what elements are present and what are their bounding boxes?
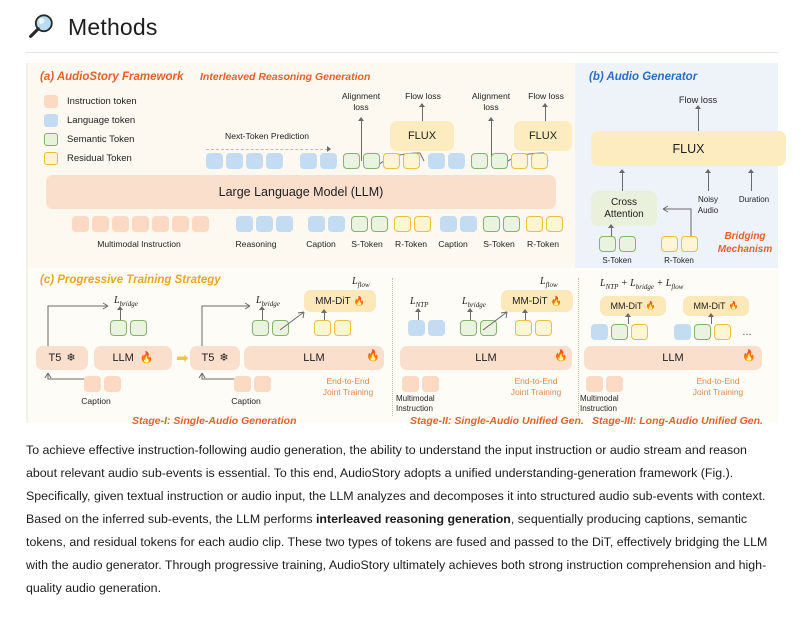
stage1b-lbridge-arrowhead xyxy=(259,306,265,310)
residual-token xyxy=(681,236,698,252)
b-rtoken-row xyxy=(661,236,698,252)
semantic-token xyxy=(363,153,380,169)
label-s-token-1: S-Token xyxy=(343,239,391,249)
stage3-token-group-2 xyxy=(674,324,731,340)
stage1b-sem-to-mmdit-connector xyxy=(278,308,312,334)
stage3-mmdit-arrowhead-2 xyxy=(708,313,714,317)
stage3-llm-box: LLM xyxy=(584,346,762,370)
rtoken-to-xattn-connector xyxy=(653,201,697,239)
methods-figure: (a) AudioStory Framework Instruction tok… xyxy=(26,63,778,423)
stage1b-mmdit-arrowhead xyxy=(321,309,327,313)
stoken-to-xattn-arrowhead xyxy=(608,224,614,228)
semantic-token xyxy=(503,216,520,232)
panel-audiostory-framework: (a) AudioStory Framework Instruction tok… xyxy=(28,63,575,268)
stage2-mmdit-arrowhead xyxy=(522,309,528,313)
residual-token xyxy=(661,236,678,252)
stage3-loss-sum-label: LNTP + Lbridge + Lflow xyxy=(600,278,683,291)
semantic-token xyxy=(599,236,616,252)
flow-loss-label-2: Flow loss xyxy=(518,91,574,101)
lower-token-row-reasoning xyxy=(236,216,293,232)
bridging-label-2: Mechanism xyxy=(705,244,785,257)
stage1-t5-box: T5 ❄ xyxy=(36,346,88,370)
upper-token-row-language-2 xyxy=(300,153,337,169)
semantic-token xyxy=(371,216,388,232)
lower-token-row-caption-1 xyxy=(308,216,345,232)
stage1b-mmdit-box: MM-DiT 🔥 xyxy=(304,290,376,312)
residual-token xyxy=(535,320,552,336)
duration-arrow xyxy=(751,173,752,191)
language-token xyxy=(460,216,477,232)
stage2-lntp-arrowhead xyxy=(415,308,421,312)
stage1-lbridge-arrow xyxy=(120,310,121,320)
instruction-token xyxy=(234,376,251,392)
alignment-loss-label-1: Alignment xyxy=(335,91,387,101)
b-stoken-row xyxy=(599,236,636,252)
l-subscript: flow xyxy=(671,283,683,291)
language-token xyxy=(408,320,425,336)
residual-token xyxy=(383,153,400,169)
stage2-e2e-note: End-to-End Joint Training xyxy=(498,376,574,397)
instruction-token xyxy=(606,376,623,392)
stage3-e2e-note: End-to-End Joint Training xyxy=(680,376,756,397)
fire-icon: 🔥 xyxy=(729,302,739,310)
residual-token xyxy=(515,320,532,336)
instruction-token xyxy=(104,376,121,392)
page-title: Methods xyxy=(68,14,158,41)
language-token xyxy=(320,153,337,169)
stage3-instruction-tokens xyxy=(586,376,623,392)
e2e-line-2: Joint Training xyxy=(310,387,386,398)
xattn-to-flux-arrowhead xyxy=(619,169,625,173)
language-token xyxy=(674,324,691,340)
stage1b-t5-to-lbridge-connector xyxy=(196,296,258,348)
magnifier-icon xyxy=(26,12,56,42)
instruction-token xyxy=(92,216,109,232)
panel-progressive-training: (c) Progressive Training Strategy Lbridg… xyxy=(28,268,778,423)
interleaved-reasoning-title: Interleaved Reasoning Generation xyxy=(200,71,370,83)
stoken-to-xattn-arrow xyxy=(611,228,612,236)
stage1b-caption-tokens xyxy=(234,376,271,392)
semantic-token xyxy=(130,320,147,336)
language-token xyxy=(428,153,445,169)
b-s-token-label: S-Token xyxy=(591,256,643,265)
mmdit-label: MM-DiT xyxy=(611,301,643,311)
language-token xyxy=(266,153,283,169)
cross-attention-label-2: Attention xyxy=(604,209,643,221)
e2e-line-1: End-to-End xyxy=(680,376,756,387)
panel-audio-generator: (b) Audio Generator Flow loss FLUX Cross… xyxy=(575,63,778,268)
label-s-token-2: S-Token xyxy=(475,239,523,249)
stage1b-mmdit-arrow xyxy=(324,313,325,320)
residual-token xyxy=(394,216,411,232)
residual-token xyxy=(531,153,548,169)
stage2-multimodal-label-2: Instruction xyxy=(396,404,458,413)
stage1-caption-tokens xyxy=(84,376,121,392)
panel-a-title: (a) AudioStory Framework xyxy=(40,71,183,83)
header-divider xyxy=(26,52,778,53)
stage3-mmdit-arrowhead-1 xyxy=(625,313,631,317)
stage2-lang-tokens xyxy=(408,320,445,336)
lower-token-row-rtoken-1 xyxy=(394,216,431,232)
label-reasoning: Reasoning xyxy=(226,239,286,249)
instruction-token xyxy=(192,216,209,232)
flow-arrow-1 xyxy=(422,107,423,121)
semantic-token xyxy=(110,320,127,336)
t5-label: T5 xyxy=(48,352,61,364)
language-token xyxy=(256,216,273,232)
stage2-lflow-label: Lflow xyxy=(540,276,558,289)
stage-3-caption: Stage-III: Long-Audio Unified Gen. xyxy=(592,415,763,427)
fire-icon: 🔥 xyxy=(551,297,562,306)
alignment-loss-label-2b: loss xyxy=(465,102,517,112)
stage1-lbridge-arrowhead xyxy=(117,306,123,310)
l-subscript: bridge xyxy=(636,283,654,291)
l-subscript: flow xyxy=(358,281,370,289)
semantic-token-swatch xyxy=(44,133,58,146)
b-r-token-label: R-Token xyxy=(653,256,705,265)
label-multimodal-instruction: Multimodal Instruction xyxy=(72,239,206,249)
stage1b-res-tokens xyxy=(314,320,351,336)
alignment-loss-label-1b: loss xyxy=(335,102,387,112)
flow-arrowhead-2 xyxy=(542,103,548,107)
stage-divider-1 xyxy=(392,278,393,416)
stage3-mmdit-box-2: MM-DiT 🔥 xyxy=(683,296,749,316)
language-token xyxy=(448,153,465,169)
label-r-token-1: R-Token xyxy=(387,239,435,249)
semantic-token xyxy=(351,216,368,232)
residual-token xyxy=(631,324,648,340)
semantic-token xyxy=(343,153,360,169)
flow-arrowhead-1 xyxy=(419,103,425,107)
upper-token-row-language-1 xyxy=(206,153,283,169)
legend-label: Semantic Token xyxy=(67,134,134,145)
l-subscript: NTP xyxy=(606,283,619,291)
duration-label: Duration xyxy=(730,195,778,204)
language-token xyxy=(236,216,253,232)
lower-token-row-stoken-2 xyxy=(483,216,520,232)
language-token-swatch xyxy=(44,114,58,127)
stage2-instruction-tokens xyxy=(402,376,439,392)
stage1-e2e-note: End-to-End Joint Training xyxy=(310,376,386,397)
lower-token-row-rtoken-2 xyxy=(526,216,563,232)
flow-loss-arrowhead-b xyxy=(695,105,701,109)
fire-icon: 🔥 xyxy=(140,353,154,364)
semantic-token xyxy=(471,153,488,169)
language-token xyxy=(440,216,457,232)
t5-label: T5 xyxy=(201,352,214,364)
next-token-dash-line xyxy=(206,149,328,150)
next-token-prediction-label: Next-Token Prediction xyxy=(225,131,309,141)
label-caption-2: Caption xyxy=(432,239,474,249)
xattn-to-flux-arrow xyxy=(622,173,623,191)
instruction-token xyxy=(254,376,271,392)
upper-token-row-sem-res-2 xyxy=(471,153,548,169)
legend-item-instruction: Instruction token xyxy=(44,93,137,110)
upper-token-row-sem-res-1 xyxy=(343,153,420,169)
semantic-token xyxy=(483,216,500,232)
legend-item-semantic: Semantic Token xyxy=(44,131,137,148)
language-token xyxy=(328,216,345,232)
stage3-mmdit-box-1: MM-DiT 🔥 xyxy=(600,296,666,316)
flux-box-b: FLUX xyxy=(591,131,786,166)
label-caption-1: Caption xyxy=(300,239,342,249)
stage3-ellipsis: ... xyxy=(736,326,758,338)
lower-token-row-stoken-1 xyxy=(351,216,388,232)
e2e-line-2: Joint Training xyxy=(498,387,574,398)
instruction-token xyxy=(72,216,89,232)
lower-token-row-instruction xyxy=(72,216,209,232)
fire-icon: 🔥 xyxy=(742,351,756,362)
residual-token xyxy=(414,216,431,232)
mmdit-label: MM-DiT xyxy=(512,296,548,307)
semantic-token xyxy=(694,324,711,340)
stage1b-lflow-label: Lflow xyxy=(352,276,370,289)
language-token xyxy=(308,216,325,232)
stage1b-llm-box: LLM xyxy=(244,346,384,370)
bridging-mechanism-label: Bridging Mechanism xyxy=(705,231,785,256)
stage1-llm-box: LLM 🔥 xyxy=(94,346,172,370)
instruction-token xyxy=(152,216,169,232)
stage2-lbridge-arrow xyxy=(470,312,471,320)
legend-label: Language token xyxy=(67,115,135,126)
cross-attention-label-1: Cross xyxy=(611,197,637,209)
residual-token xyxy=(714,324,731,340)
stage3-multimodal-label-1: Multimodal xyxy=(580,394,642,403)
flow-loss-label-1: Flow loss xyxy=(395,91,451,101)
stage3-mmdit-arrow-1 xyxy=(628,317,629,324)
label-r-token-2: R-Token xyxy=(519,239,567,249)
stage1-caption-label: Caption xyxy=(68,396,124,406)
stage3-multimodal-label-2: Instruction xyxy=(580,404,642,413)
language-token xyxy=(428,320,445,336)
instruction-token xyxy=(402,376,419,392)
alignment-arrowhead-2 xyxy=(488,117,494,121)
stage-divider-2 xyxy=(578,278,579,416)
instruction-token-swatch xyxy=(44,95,58,108)
semantic-token xyxy=(619,236,636,252)
instruction-token xyxy=(586,376,603,392)
page-header: Methods xyxy=(0,0,800,52)
stage3-token-group-1 xyxy=(591,324,648,340)
stage2-lntp-arrow xyxy=(418,312,419,320)
methods-description: To achieve effective instruction-followi… xyxy=(26,439,778,600)
alignment-loss-label-2: Alignment xyxy=(465,91,517,101)
stage2-multimodal-label-1: Multimodal xyxy=(396,394,458,403)
stage-2-caption: Stage-II: Single-Audio Unified Gen. xyxy=(410,415,584,427)
snowflake-icon: ❄ xyxy=(219,353,228,364)
residual-token xyxy=(403,153,420,169)
semantic-token xyxy=(491,153,508,169)
e2e-line-2: Joint Training xyxy=(680,387,756,398)
instruction-token xyxy=(84,376,101,392)
fire-icon: 🔥 xyxy=(646,302,656,310)
fire-icon: 🔥 xyxy=(366,351,380,362)
stage1b-lbridge-arrow xyxy=(262,310,263,320)
upper-token-row-language-3 xyxy=(428,153,465,169)
llm-box: Large Language Model (LLM) xyxy=(46,175,556,209)
llm-label: LLM xyxy=(475,352,496,364)
stage1b-t5-box: T5 ❄ xyxy=(190,346,240,370)
mmdit-label: MM-DiT xyxy=(694,301,726,311)
stage2-lbridge-arrowhead xyxy=(467,308,473,312)
stage2-sem-to-mmdit-connector xyxy=(481,308,515,334)
noisy-audio-arrowhead xyxy=(705,169,711,173)
flow-loss-label-b: Flow loss xyxy=(663,95,733,105)
residual-token xyxy=(314,320,331,336)
instruction-token xyxy=(422,376,439,392)
stage2-res-tokens xyxy=(515,320,552,336)
flow-arrow-2 xyxy=(545,107,546,121)
semantic-token xyxy=(252,320,269,336)
legend-label: Instruction token xyxy=(67,96,137,107)
legend-item-residual: Residual Token xyxy=(44,150,137,167)
flow-loss-arrow-b xyxy=(698,109,699,131)
snowflake-icon: ❄ xyxy=(66,353,75,364)
fire-icon: 🔥 xyxy=(354,297,365,306)
stage2-llm-box: LLM xyxy=(400,346,572,370)
stage1b-caption-label: Caption xyxy=(218,396,274,406)
legend-item-language: Language token xyxy=(44,112,137,129)
residual-token xyxy=(334,320,351,336)
bridging-label-1: Bridging xyxy=(705,231,785,244)
llm-label: LLM xyxy=(662,352,683,364)
l-subscript: flow xyxy=(546,281,558,289)
instruction-token xyxy=(112,216,129,232)
mmdit-label: MM-DiT xyxy=(315,296,351,307)
residual-token xyxy=(546,216,563,232)
residual-token-swatch xyxy=(44,152,58,165)
stage-1-caption: Stage-I: Single-Audio Generation xyxy=(132,415,297,427)
noisy-audio-arrow xyxy=(708,173,709,191)
instruction-token xyxy=(132,216,149,232)
language-token xyxy=(591,324,608,340)
e2e-line-1: End-to-End xyxy=(310,376,386,387)
duration-arrowhead xyxy=(748,169,754,173)
lower-token-row-caption-2 xyxy=(440,216,477,232)
residual-token xyxy=(511,153,528,169)
cross-attention-box: Cross Attention xyxy=(591,191,657,226)
alignment-arrowhead-1 xyxy=(358,117,364,121)
language-token xyxy=(276,216,293,232)
stage-progression-arrow-icon: ➡ xyxy=(176,351,189,366)
residual-token xyxy=(526,216,543,232)
language-token xyxy=(246,153,263,169)
language-token xyxy=(300,153,317,169)
token-legend: Instruction token Language token Semanti… xyxy=(44,93,137,169)
semantic-token xyxy=(460,320,477,336)
fire-icon: 🔥 xyxy=(554,351,568,362)
stage2-mmdit-arrow xyxy=(525,313,526,320)
llm-label: LLM xyxy=(112,352,133,364)
stage3-mmdit-arrow-2 xyxy=(711,317,712,324)
panel-b-title: (b) Audio Generator xyxy=(589,71,697,83)
description-emphasis: interleaved reasoning generation xyxy=(316,512,511,526)
e2e-line-1: End-to-End xyxy=(498,376,574,387)
stage1-t5-to-lbridge-connector xyxy=(42,296,116,348)
stage1-sem-tokens xyxy=(110,320,147,336)
panel-c-title: (c) Progressive Training Strategy xyxy=(40,274,221,286)
instruction-token xyxy=(172,216,189,232)
legend-label: Residual Token xyxy=(67,153,132,164)
semantic-token xyxy=(611,324,628,340)
language-token xyxy=(206,153,223,169)
language-token xyxy=(226,153,243,169)
llm-label: LLM xyxy=(303,352,324,364)
